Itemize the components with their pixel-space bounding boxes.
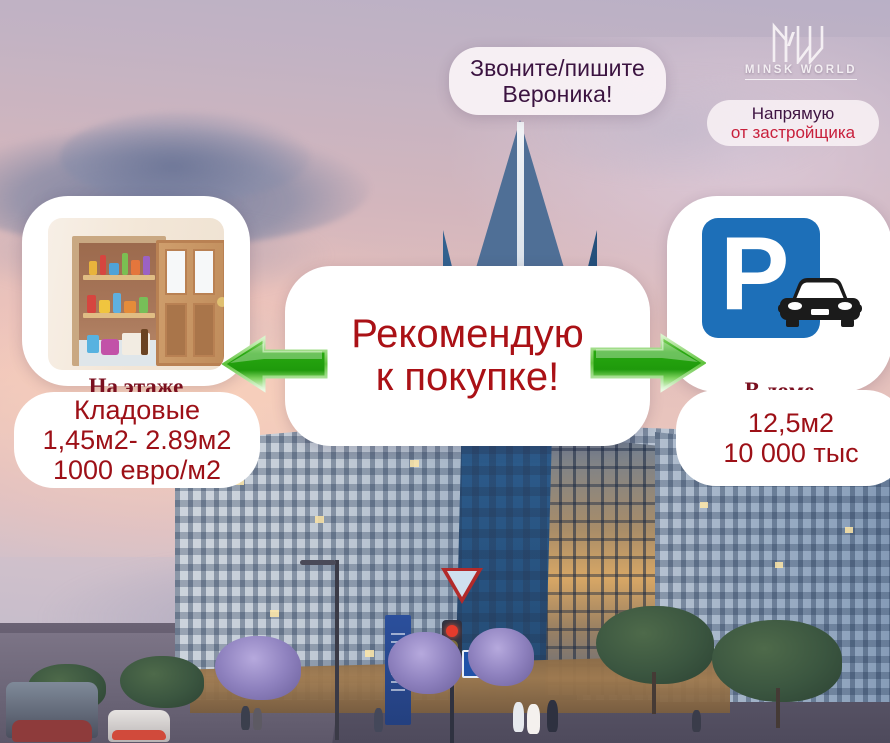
traffic-light-red <box>446 625 458 637</box>
tree-trunk <box>652 672 656 714</box>
callout-bubble: Звоните/пишите Вероника! <box>449 47 666 115</box>
parking-line-1: 12,5м2 <box>748 408 834 438</box>
storage-line-1: Кладовые <box>74 395 200 425</box>
storage-card-text: Кладовые 1,45м2- 2.89м2 1000 евро/м2 <box>14 392 260 488</box>
storage-room-illustration <box>48 218 224 370</box>
door-knob <box>217 297 224 307</box>
lamp-post <box>335 560 339 740</box>
floor-item <box>141 329 148 355</box>
shelf-item <box>109 263 119 275</box>
storage-door <box>156 240 224 366</box>
brand-logo: MINSK WORLD <box>742 22 860 88</box>
car-taillight <box>112 730 166 740</box>
tree-trunk <box>776 688 780 728</box>
shelf-item <box>139 297 148 313</box>
badge-line-1: Напрямую <box>752 104 835 123</box>
recommendation-line-1: Рекомендую <box>351 313 584 356</box>
brand-name: MINSK WORLD <box>742 64 860 76</box>
lit-window <box>700 502 708 508</box>
arrow-right-icon <box>588 330 706 396</box>
pedestrian <box>374 708 383 732</box>
cloud <box>60 112 310 202</box>
door-glass-pane <box>165 249 187 295</box>
tree <box>120 656 204 708</box>
callout-line-2: Вероника! <box>470 81 645 107</box>
pedestrian <box>547 700 558 732</box>
direct-from-developer-badge: Напрямую от застройщика <box>707 100 879 146</box>
shelf-item <box>124 301 136 313</box>
car-icon <box>772 274 868 330</box>
shelf-item <box>122 253 128 275</box>
pedestrian <box>513 702 524 732</box>
car-taillight <box>12 720 92 742</box>
callout-line-1: Звоните/пишите <box>470 55 645 81</box>
tree <box>468 628 534 686</box>
storage-line-2: 1,45м2- 2.89м2 <box>43 425 232 455</box>
lit-window <box>365 650 374 657</box>
storage-interior <box>79 243 159 366</box>
mw-monogram-icon <box>742 22 860 64</box>
shelf-item <box>131 260 140 275</box>
shelf <box>83 275 155 280</box>
lit-window <box>775 562 783 568</box>
shelf-item <box>87 295 96 313</box>
door-glass-pane <box>193 249 215 295</box>
recommendation-line-2: к покупке! <box>351 356 584 399</box>
tree <box>388 632 462 694</box>
floor-item <box>101 339 119 355</box>
yield-sign-icon <box>441 568 483 604</box>
lit-window <box>410 460 419 467</box>
shelf-item <box>89 261 97 275</box>
storage-line-3: 1000 евро/м2 <box>53 455 221 485</box>
arrow-left-icon <box>222 332 332 396</box>
door-panel <box>193 303 215 357</box>
tree <box>215 636 301 700</box>
promo-image: Звоните/пишите Вероника! MINSK WORLD Нап… <box>0 0 890 743</box>
door-frame <box>72 236 166 366</box>
pedestrian <box>253 708 262 730</box>
shelf <box>83 313 155 318</box>
pedestrian <box>241 706 250 730</box>
lit-window <box>845 527 853 533</box>
storage-card: На этаже <box>22 196 250 386</box>
shelf-item <box>100 255 106 275</box>
shelf-item <box>143 256 150 275</box>
door-panel <box>165 303 187 357</box>
lamp-arm <box>300 560 336 565</box>
shelf-item <box>113 293 121 313</box>
pedestrian <box>692 710 701 732</box>
parking-card-text: 12,5м2 10 000 тыс <box>676 390 890 486</box>
floor-item <box>87 335 99 353</box>
shelf-item <box>99 300 110 313</box>
brand-rule <box>745 79 857 80</box>
parking-line-2: 10 000 тыс <box>723 438 858 468</box>
lit-window <box>270 610 279 617</box>
lit-window <box>315 516 324 523</box>
pedestrian <box>527 704 540 734</box>
badge-line-2: от застройщика <box>731 123 855 142</box>
